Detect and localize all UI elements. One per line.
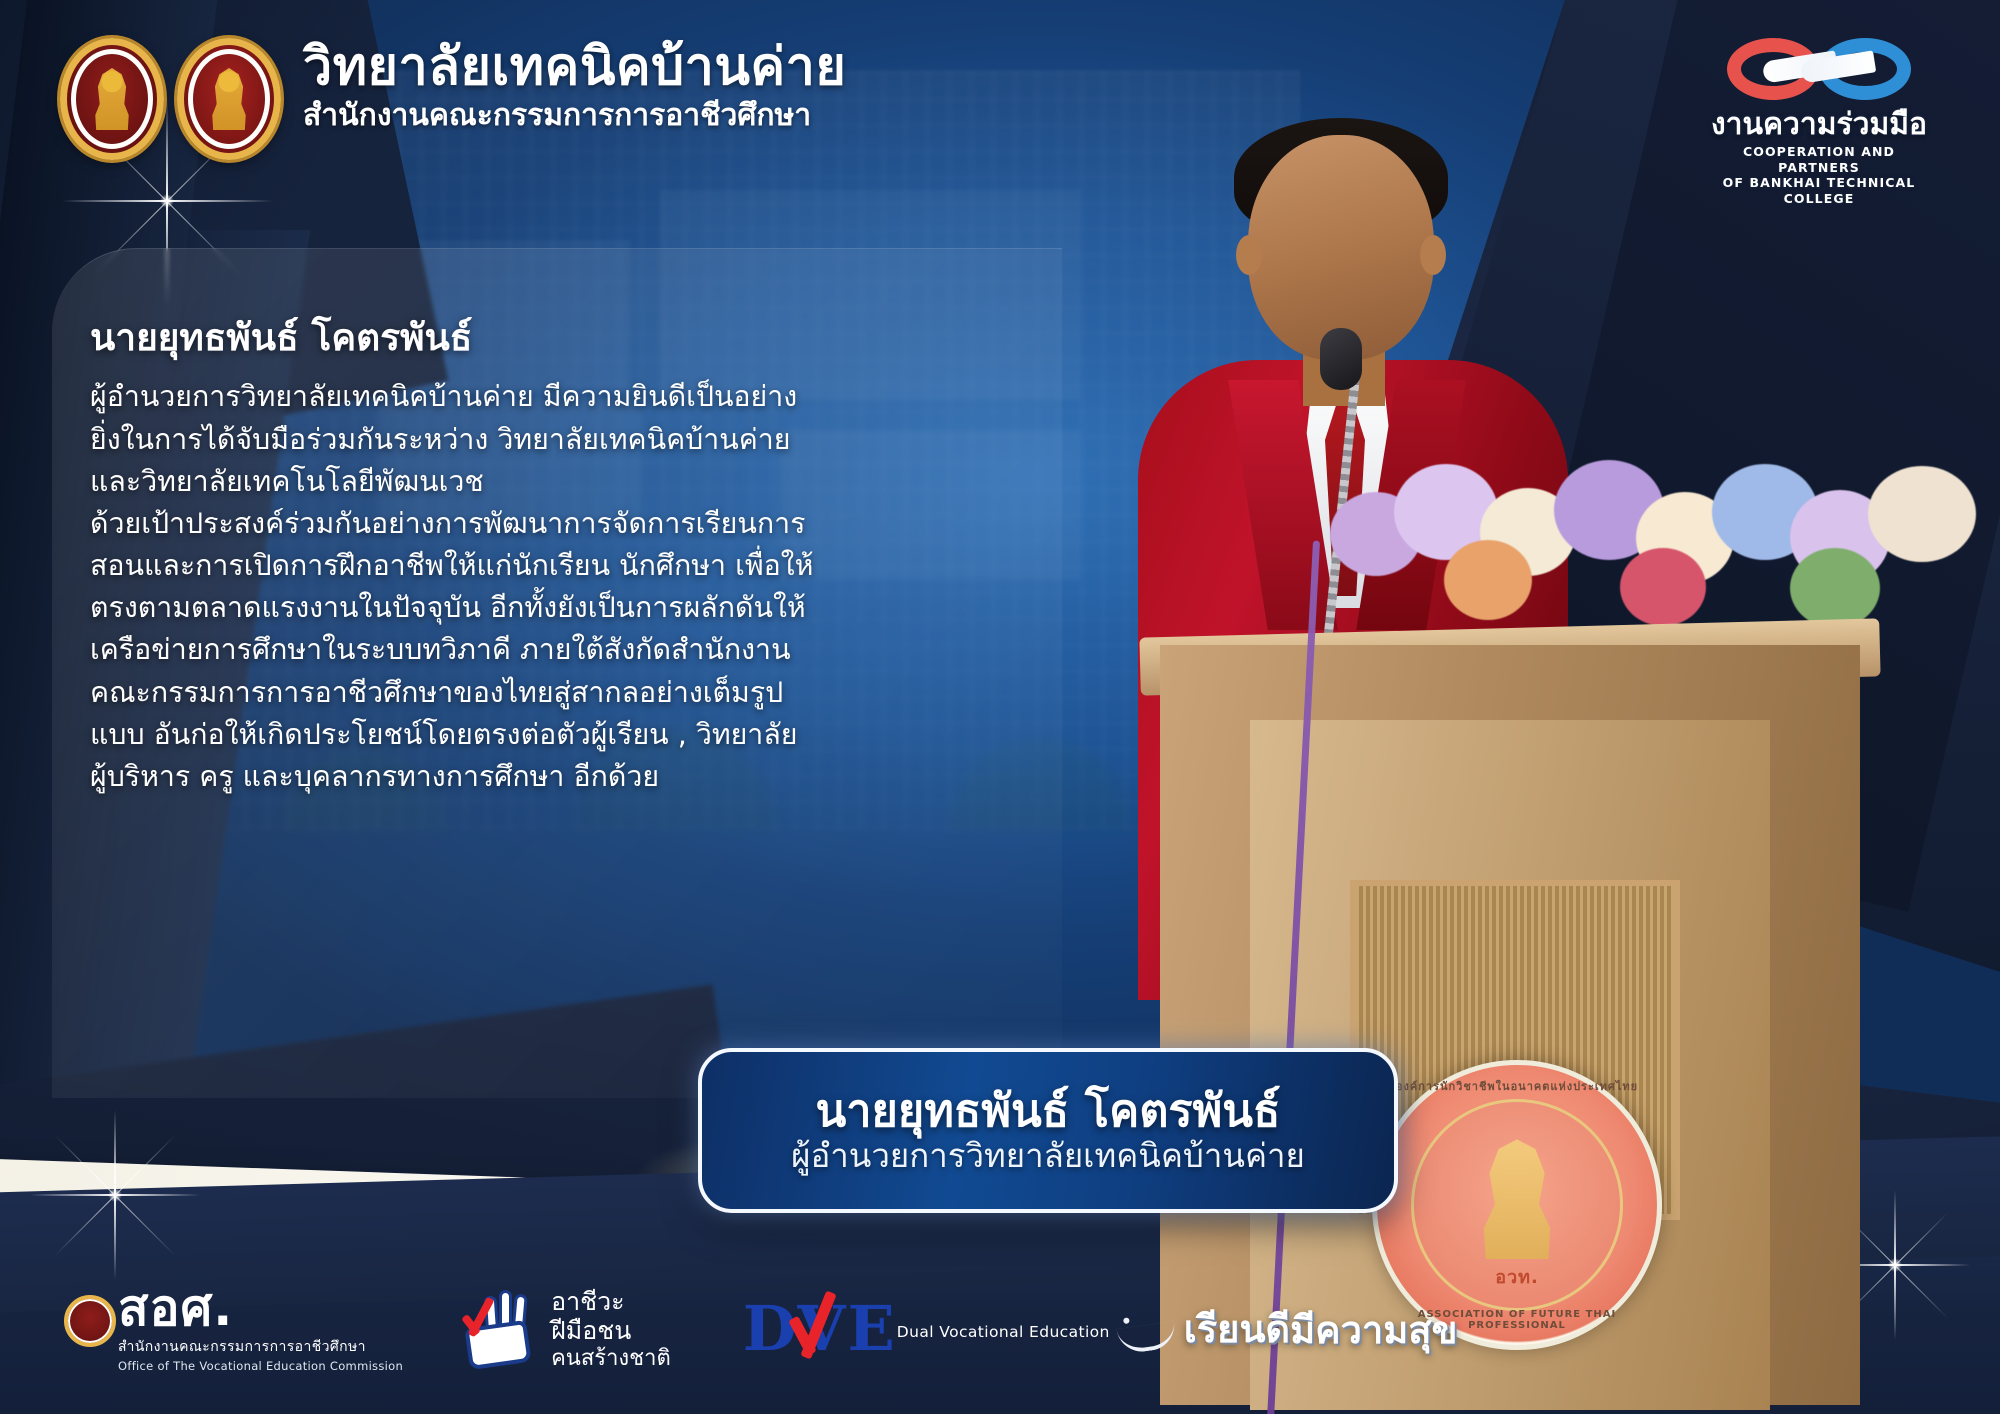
podium-seal-thai-outer: องค์การนักวิชาชีพในอนาคตแห่งประเทศไทย (1377, 1077, 1657, 1095)
vec-english-name: Office of The Vocational Education Commi… (118, 1359, 403, 1373)
cooperation-logo: งานความร่วมมือ COOPERATION AND PARTNERS … (1704, 30, 1934, 207)
coop-english-line1: COOPERATION AND PARTNERS (1704, 144, 1934, 175)
paragraph-line: แบบ อันก่อให้เกิดประโยชน์โดยตรงต่อตัวผู้… (90, 714, 850, 756)
paragraph-line: ด้วยเป้าประสงค์ร่วมกันอย่างการพัฒนาการจั… (90, 503, 850, 545)
vocational-education-commission-seal-icon (60, 38, 164, 160)
happy-line2: มีความสุข (1290, 1311, 1457, 1349)
dve-check-icon (783, 1290, 857, 1360)
message-paragraph: ผู้อำนวยการวิทยาลัยเทคนิคบ้านค่าย มีความ… (90, 376, 850, 798)
organization-subtitle: สำนักงานคณะกรรมการการอาชีวศึกษา (303, 99, 846, 134)
happy-learning-logo: เรียนดี มีความสุข (1184, 1309, 1458, 1349)
message-block: นายยุทธพันธ์ โคตรพันธ์ ผู้อำนวยการวิทยาล… (90, 316, 850, 798)
director-name-heading: นายยุทธพันธ์ โคตรพันธ์ (90, 316, 850, 360)
paragraph-line: ตรงตามตลาดแรงงานในปัจจุบัน อีกทั้งยังเป็… (90, 587, 850, 629)
dve-letters: DVE (743, 1298, 897, 1360)
handshake-infinity-icon (1719, 30, 1919, 108)
organization-title: วิทยาลัยเทคนิคบ้านค่าย (303, 40, 846, 95)
paragraph-line: ผู้บริหาร ครู และบุคลากรทางการศึกษา อีกด… (90, 756, 850, 798)
paragraph-line: คณะกรรมการการอาชีวศึกษาของไทยสู่สากลอย่า… (90, 672, 850, 714)
vec-thai-name: สำนักงานคณะกรรมการการอาชีวศึกษา (118, 1336, 403, 1358)
archiwa-line1: อาชีวะ (551, 1287, 671, 1317)
paragraph-line: ยิ่งในการได้จับมือร่วมกันระหว่าง วิทยาลั… (90, 419, 850, 461)
flower-bouquet (1320, 430, 2000, 650)
poster-canvas: องค์การนักวิชาชีพในอนาคตแห่งประเทศไทย อว… (0, 0, 2000, 1414)
coop-english-line2: OF BANKHAI TECHNICAL COLLEGE (1704, 175, 1934, 206)
paragraph-line: และวิทยาลัยเทคโนโลยีพัฒนเวช (90, 461, 850, 503)
paragraph-line: เครือข่ายการศึกษาในระบบทวิภาคี ภายใต้สัง… (90, 629, 850, 671)
badge-name: นายยุทธพันธ์ โคตรพันธ์ (815, 1086, 1280, 1136)
smile-icon (1116, 1321, 1177, 1355)
coop-thai-label: งานความร่วมมือ (1704, 110, 1934, 140)
vec-logo: สอศ. สำนักงานคณะกรรมการการอาชีวศึกษา Off… (64, 1285, 403, 1374)
dve-logo: DVE Dual Vocational Education (743, 1298, 1110, 1360)
name-badge: นายยุทธพันธ์ โคตรพันธ์ ผู้อำนวยการวิทยาล… (698, 1048, 1398, 1213)
archiwa-line3: คนสร้างชาติ (551, 1346, 671, 1372)
paragraph-line: สอนและการเปิดการฝึกอาชีพให้แก่นักเรียน น… (90, 545, 850, 587)
vec-abbrev: สอศ. (118, 1285, 403, 1333)
archiwa-logo: อาชีวะ ฝีมือชน คนสร้างชาติ (463, 1287, 671, 1372)
dve-caption: Dual Vocational Education (897, 1323, 1110, 1341)
brand-titles: วิทยาลัยเทคนิคบ้านค่าย สำนักงานคณะกรรมกา… (303, 40, 846, 133)
bankhai-technical-college-seal-icon (177, 38, 281, 160)
happy-line1: เรียนดี (1184, 1310, 1290, 1348)
hand-check-icon (463, 1292, 537, 1366)
footer-logos: สอศ. สำนักงานคณะกรรมการการอาชีวศึกษา Off… (0, 1244, 2000, 1414)
vec-seal-icon (64, 1295, 116, 1347)
poster-header: วิทยาลัยเทคนิคบ้านค่าย สำนักงานคณะกรรมกา… (0, 0, 2000, 170)
paragraph-line: ผู้อำนวยการวิทยาลัยเทคนิคบ้านค่าย มีความ… (90, 376, 850, 418)
archiwa-line2: ฝีมือชน (551, 1316, 671, 1346)
badge-position: ผู้อำนวยการวิทยาลัยเทคนิคบ้านค่าย (791, 1137, 1305, 1175)
